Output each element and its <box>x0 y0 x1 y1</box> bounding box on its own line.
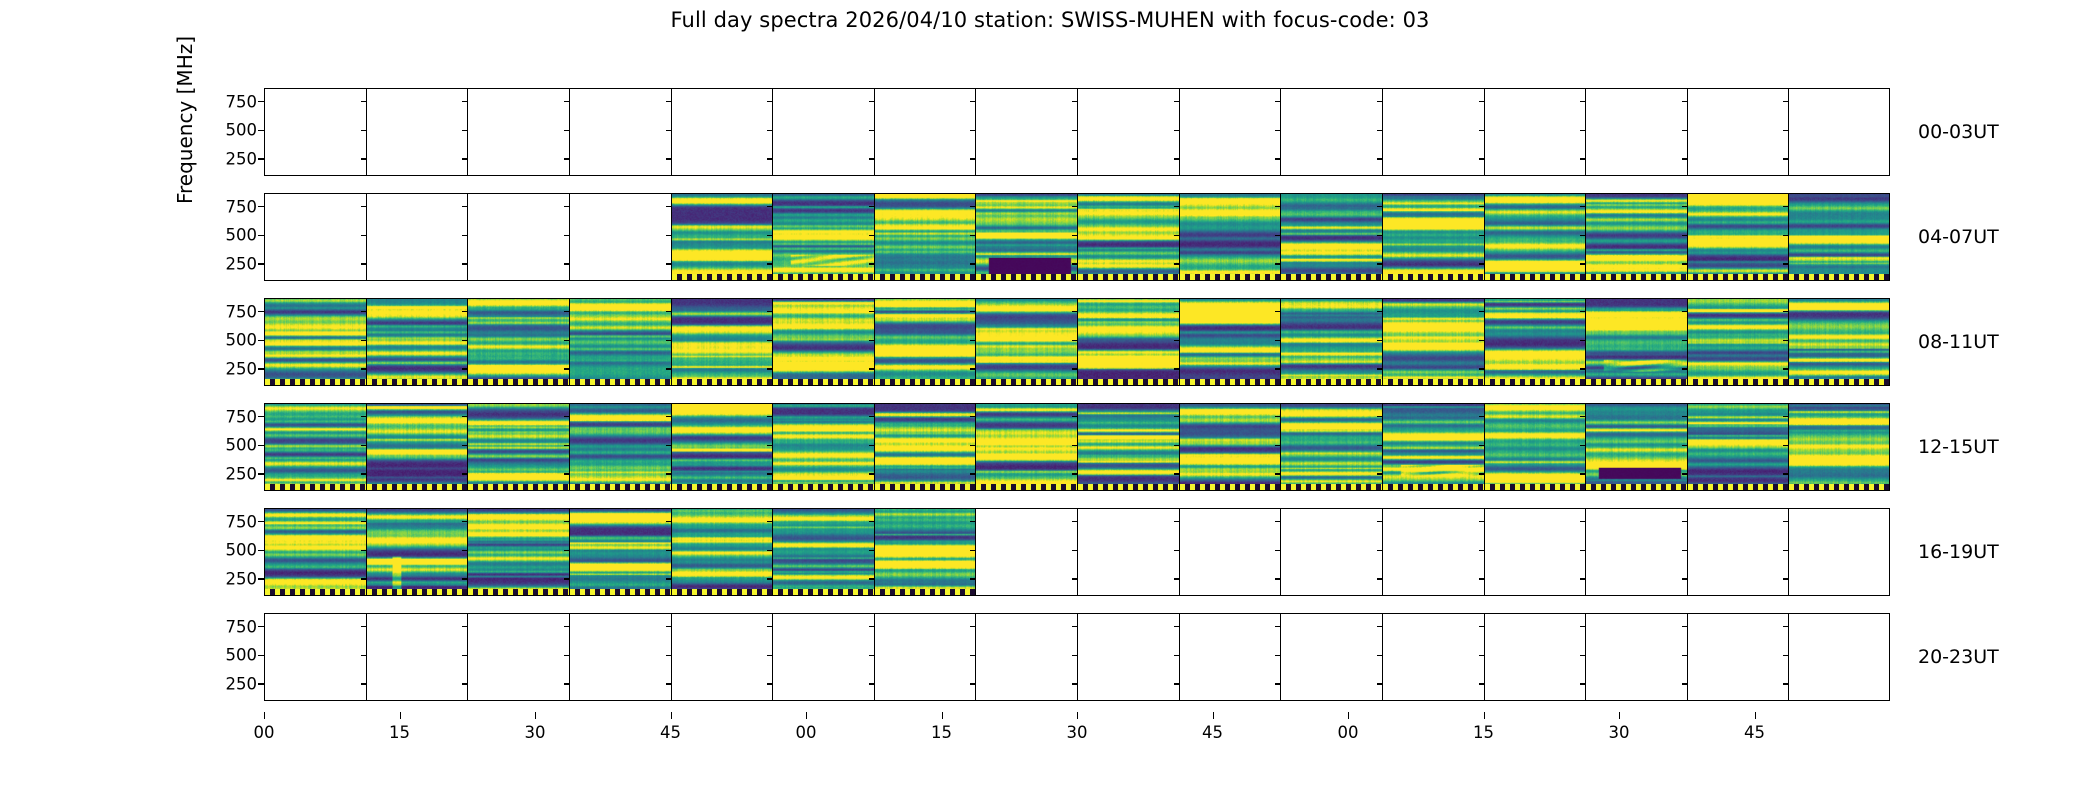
y-tick-mark-inner <box>462 473 467 474</box>
spectrogram-cell[interactable] <box>1383 89 1485 175</box>
y-tick-mark-inner <box>564 368 569 369</box>
y-tick-mark-inner <box>970 578 975 579</box>
spectrogram-cell[interactable] <box>1688 89 1790 175</box>
baseline-marker <box>976 484 1077 490</box>
y-tick-mark-inner <box>666 521 671 522</box>
y-tick-mark-inner <box>1479 311 1484 312</box>
spectrogram-cell[interactable] <box>875 614 977 700</box>
y-tick-mark-inner <box>361 521 366 522</box>
spectrogram-cell[interactable] <box>1586 509 1688 595</box>
spectrogram-cell[interactable] <box>265 404 367 490</box>
spectrogram-cell[interactable] <box>1586 89 1688 175</box>
y-tick-mark-inner <box>869 578 874 579</box>
baseline-marker <box>468 589 569 595</box>
y-tick-mark-inner <box>564 206 569 207</box>
spectrogram-image <box>1688 194 1789 280</box>
y-tick-mark-inner <box>1682 626 1687 627</box>
spectrogram-cell[interactable] <box>570 299 672 385</box>
x-tick-label: 30 <box>525 723 546 742</box>
y-tick-mark-inner <box>970 655 975 656</box>
y-tick-mark-inner <box>361 578 366 579</box>
spectrogram-cell[interactable] <box>468 194 570 280</box>
baseline-marker <box>570 379 671 385</box>
spectrogram-cell[interactable] <box>1789 89 1890 175</box>
spectrogram-cell[interactable] <box>1688 509 1790 595</box>
spectrogram-cell[interactable] <box>1586 614 1688 700</box>
baseline-marker <box>1281 484 1382 490</box>
spectrogram-image <box>672 509 773 595</box>
spectrogram-cell[interactable] <box>1078 614 1180 700</box>
baseline-marker <box>672 589 773 595</box>
spectrogram-row-12-15ut[interactable]: 750500250 <box>264 403 1890 491</box>
spectrogram-cell[interactable] <box>1383 404 1485 490</box>
spectrogram-cell[interactable] <box>1281 89 1383 175</box>
spectrogram-cell[interactable] <box>1180 299 1282 385</box>
spectrogram-cell[interactable] <box>875 194 977 280</box>
y-tick-mark-inner <box>462 683 467 684</box>
baseline-marker <box>875 589 976 595</box>
baseline-marker <box>773 274 874 280</box>
baseline-marker <box>367 484 468 490</box>
spectrogram-cell[interactable] <box>773 89 875 175</box>
y-tick-mark-inner <box>1682 101 1687 102</box>
y-tick-mark-inner <box>1682 311 1687 312</box>
spectrogram-cell[interactable] <box>1180 194 1282 280</box>
y-tick-mark-inner <box>1783 550 1788 551</box>
spectrogram-cell[interactable] <box>367 194 469 280</box>
spectrogram-cell[interactable] <box>1789 404 1890 490</box>
spectrogram-cell[interactable] <box>570 89 672 175</box>
y-tick-mark-inner <box>970 626 975 627</box>
spectrogram-cell[interactable] <box>367 89 469 175</box>
spectrogram-image <box>1789 194 1890 280</box>
baseline-marker <box>1383 379 1484 385</box>
y-tick-mark-inner <box>1783 235 1788 236</box>
spectrogram-cell[interactable] <box>1485 404 1587 490</box>
spectrogram-cell[interactable] <box>875 404 977 490</box>
y-tick-mark-inner <box>1377 206 1382 207</box>
y-tick-mark-inner <box>1275 578 1280 579</box>
baseline-marker <box>773 379 874 385</box>
y-tick-label: 500 <box>226 121 258 140</box>
y-tick-mark-inner <box>1377 158 1382 159</box>
spectrogram-cell[interactable] <box>1485 194 1587 280</box>
y-tick-mark <box>258 130 264 131</box>
spectrogram-cell[interactable] <box>875 89 977 175</box>
y-tick-mark-inner <box>361 130 366 131</box>
spectrogram-image <box>1485 194 1586 280</box>
baseline-marker <box>672 379 773 385</box>
y-tick-mark-inner <box>1275 416 1280 417</box>
baseline-marker <box>672 484 773 490</box>
x-tick-label: 45 <box>1744 723 1765 742</box>
y-tick-mark-inner <box>1072 158 1077 159</box>
y-tick-mark-inner <box>869 311 874 312</box>
y-tick-mark-inner <box>1174 101 1179 102</box>
y-tick-mark-inner <box>1479 206 1484 207</box>
spectrogram-cell[interactable] <box>1180 509 1282 595</box>
spectrogram-cell[interactable] <box>468 404 570 490</box>
y-tick-mark-inner <box>1072 311 1077 312</box>
baseline-marker <box>367 589 468 595</box>
spectrogram-cell[interactable] <box>367 614 469 700</box>
y-tick-mark-inner <box>970 311 975 312</box>
x-tick-label: 15 <box>1473 723 1494 742</box>
y-tick-mark-inner <box>462 655 467 656</box>
y-tick-mark-inner <box>970 101 975 102</box>
spectrogram-cell[interactable] <box>1586 194 1688 280</box>
spectrogram-cell[interactable] <box>1281 194 1383 280</box>
y-tick-mark-inner <box>462 445 467 446</box>
y-tick-mark-inner <box>462 340 467 341</box>
spectrogram-cell[interactable] <box>1485 299 1587 385</box>
spectrogram-cell[interactable] <box>1180 89 1282 175</box>
spectrogram-cell[interactable] <box>468 509 570 595</box>
spectrogram-cell[interactable] <box>976 404 1078 490</box>
y-tick-mark-inner <box>1580 368 1585 369</box>
y-tick-mark-inner <box>767 263 772 264</box>
y-tick-mark-inner <box>1072 130 1077 131</box>
spectrogram-cell[interactable] <box>672 614 774 700</box>
y-tick-mark <box>258 416 264 417</box>
baseline-marker <box>1383 274 1484 280</box>
y-tick-mark-inner <box>1783 311 1788 312</box>
y-tick-mark-inner <box>1682 206 1687 207</box>
y-tick-mark-inner <box>970 158 975 159</box>
spectrogram-cell[interactable] <box>570 194 672 280</box>
baseline-marker <box>1586 274 1687 280</box>
baseline-marker <box>875 274 976 280</box>
y-tick-mark-inner <box>1580 416 1585 417</box>
y-tick-mark-inner <box>1377 368 1382 369</box>
y-tick-label: 250 <box>226 569 258 588</box>
y-tick-mark-inner <box>869 101 874 102</box>
spectrogram-cell[interactable] <box>672 299 774 385</box>
x-tick-mark <box>806 712 807 719</box>
row-label-20-23ut: 20-23UT <box>1918 646 1999 668</box>
y-tick-mark-inner <box>666 578 671 579</box>
y-tick-mark-inner <box>361 683 366 684</box>
spectrogram-cell[interactable] <box>773 194 875 280</box>
spectrogram-cell[interactable] <box>367 509 469 595</box>
spectrogram-image <box>1586 404 1687 490</box>
y-tick-mark-inner <box>666 655 671 656</box>
spectrogram-image <box>468 299 569 385</box>
spectrogram-cell[interactable] <box>672 404 774 490</box>
spectrogram-cell[interactable] <box>1078 194 1180 280</box>
y-tick-mark-inner <box>361 263 366 264</box>
y-tick-mark-inner <box>1479 578 1484 579</box>
spectrogram-cell[interactable] <box>1586 404 1688 490</box>
baseline-marker <box>1586 379 1687 385</box>
baseline-marker <box>1789 274 1890 280</box>
y-tick-mark-inner <box>767 473 772 474</box>
spectrogram-cell[interactable] <box>875 509 977 595</box>
y-tick-mark-inner <box>869 550 874 551</box>
x-tick-mark <box>942 712 943 719</box>
spectrogram-cell[interactable] <box>1688 194 1790 280</box>
spectrogram-cell[interactable] <box>976 194 1078 280</box>
y-tick-mark-inner <box>970 473 975 474</box>
spectrogram-image <box>265 299 366 385</box>
y-tick-mark-inner <box>869 263 874 264</box>
y-tick-mark-inner <box>869 473 874 474</box>
spectrogram-cell[interactable] <box>570 614 672 700</box>
spectrogram-cell[interactable] <box>468 89 570 175</box>
baseline-marker <box>875 379 976 385</box>
y-tick-mark <box>258 578 264 579</box>
baseline-marker <box>1078 379 1179 385</box>
y-tick-label: 500 <box>226 646 258 665</box>
spectrogram-cell[interactable] <box>1078 509 1180 595</box>
spectrogram-row-16-19ut[interactable]: 750500250 <box>264 508 1890 596</box>
y-tick-mark-inner <box>564 416 569 417</box>
y-tick-mark-inner <box>1479 655 1484 656</box>
spectrogram-cell[interactable] <box>1789 509 1890 595</box>
spectrogram-image <box>672 404 773 490</box>
spectrogram-cell[interactable] <box>976 89 1078 175</box>
page-title: Full day spectra 2026/04/10 station: SWI… <box>0 8 2100 32</box>
y-tick-mark <box>258 340 264 341</box>
spectrogram-cell[interactable] <box>1485 509 1587 595</box>
y-tick-mark-inner <box>1580 550 1585 551</box>
spectrogram-cell[interactable] <box>773 614 875 700</box>
spectrogram-cell[interactable] <box>1485 89 1587 175</box>
spectrogram-row-20-23ut[interactable]: 750500250 <box>264 613 1890 701</box>
y-tick-mark-inner <box>1580 263 1585 264</box>
baseline-marker <box>1688 379 1789 385</box>
spectrogram-cell[interactable] <box>1688 299 1790 385</box>
y-tick-label: 500 <box>226 226 258 245</box>
y-tick-mark-inner <box>1682 521 1687 522</box>
y-tick-mark-inner <box>1072 416 1077 417</box>
y-tick-mark-inner <box>767 206 772 207</box>
x-tick-mark <box>1619 712 1620 719</box>
spectrogram-cell[interactable] <box>1383 194 1485 280</box>
y-tick-mark-inner <box>1174 521 1179 522</box>
spectrogram-image <box>672 299 773 385</box>
y-tick-mark-inner <box>1174 311 1179 312</box>
y-tick-mark-inner <box>564 340 569 341</box>
row-label-08-11ut: 08-11UT <box>1918 331 1999 353</box>
y-tick-mark-inner <box>1072 578 1077 579</box>
y-tick-mark-inner <box>462 206 467 207</box>
row-plot-area <box>264 298 1890 386</box>
y-tick-label: 250 <box>226 464 258 483</box>
spectrogram-image <box>672 194 773 280</box>
y-tick-mark-inner <box>1377 311 1382 312</box>
spectrogram-cell[interactable] <box>672 509 774 595</box>
spectrogram-cell[interactable] <box>976 614 1078 700</box>
spectrogram-cell[interactable] <box>1789 614 1890 700</box>
y-tick-mark-inner <box>1783 655 1788 656</box>
y-tick-mark-inner <box>666 235 671 236</box>
y-tick-mark-inner <box>1682 235 1687 236</box>
y-tick-mark-inner <box>869 235 874 236</box>
y-tick-mark-inner <box>1783 101 1788 102</box>
y-tick-mark-inner <box>1580 158 1585 159</box>
y-tick-label: 250 <box>226 359 258 378</box>
spectrogram-row-04-07ut[interactable]: 750500250 <box>264 193 1890 281</box>
y-tick-mark-inner <box>564 521 569 522</box>
y-tick-mark-inner <box>666 368 671 369</box>
spectrogram-cell[interactable] <box>265 614 367 700</box>
spectrogram-image <box>773 404 874 490</box>
x-tick-label: 15 <box>931 723 952 742</box>
y-tick-mark <box>258 101 264 102</box>
spectrogram-cell[interactable] <box>1688 404 1790 490</box>
y-tick-mark-inner <box>1377 340 1382 341</box>
y-tick-mark-inner <box>1377 578 1382 579</box>
y-tick-mark <box>258 445 264 446</box>
spectrogram-cell[interactable] <box>1485 614 1587 700</box>
y-tick-mark-inner <box>767 578 772 579</box>
spectrogram-cell[interactable] <box>1078 299 1180 385</box>
y-tick-mark-inner <box>970 521 975 522</box>
y-tick-mark-inner <box>869 655 874 656</box>
y-tick-mark-inner <box>1174 655 1179 656</box>
spectrogram-cell[interactable] <box>1383 299 1485 385</box>
x-tick-label: 45 <box>660 723 681 742</box>
spectrogram-cell[interactable] <box>672 194 774 280</box>
y-tick-mark-inner <box>1682 550 1687 551</box>
spectrogram-cell[interactable] <box>265 509 367 595</box>
spectrogram-cell[interactable] <box>1688 614 1790 700</box>
y-tick-mark-inner <box>1072 521 1077 522</box>
spectrogram-cell[interactable] <box>1281 404 1383 490</box>
y-tick-mark-inner <box>1479 130 1484 131</box>
y-tick-mark-inner <box>1580 473 1585 474</box>
y-tick-mark-inner <box>1783 683 1788 684</box>
spectrogram-cell[interactable] <box>1180 614 1282 700</box>
y-tick-mark-inner <box>1682 578 1687 579</box>
y-tick-mark <box>258 368 264 369</box>
spectrogram-cell[interactable] <box>468 614 570 700</box>
spectrogram-cell[interactable] <box>773 509 875 595</box>
baseline-marker <box>367 379 468 385</box>
y-tick-mark-inner <box>970 340 975 341</box>
spectrogram-cell[interactable] <box>773 299 875 385</box>
y-tick-mark-inner <box>869 130 874 131</box>
spectrogram-row-00-03ut[interactable]: 750500250 <box>264 88 1890 176</box>
y-tick-mark-inner <box>869 683 874 684</box>
y-tick-mark-inner <box>1275 655 1280 656</box>
y-tick-mark-inner <box>666 626 671 627</box>
y-tick-mark-inner <box>361 473 366 474</box>
y-tick-mark-inner <box>1783 416 1788 417</box>
spectrogram-image <box>468 404 569 490</box>
spectrogram-cell[interactable] <box>570 509 672 595</box>
y-tick-mark <box>258 550 264 551</box>
y-tick-mark-inner <box>767 521 772 522</box>
y-tick-mark-inner <box>1479 626 1484 627</box>
spectrogram-cell[interactable] <box>976 299 1078 385</box>
y-tick-mark-inner <box>1275 473 1280 474</box>
y-tick-mark-inner <box>767 368 772 369</box>
y-tick-label: 250 <box>226 674 258 693</box>
y-tick-mark <box>258 521 264 522</box>
y-tick-mark-inner <box>1479 416 1484 417</box>
spectrogram-cell[interactable] <box>570 404 672 490</box>
y-tick-mark-inner <box>1275 263 1280 264</box>
y-tick-mark-inner <box>666 445 671 446</box>
y-tick-mark-inner <box>1479 263 1484 264</box>
spectrogram-image <box>1281 194 1382 280</box>
spectrogram-cell[interactable] <box>1281 509 1383 595</box>
spectrogram-cell[interactable] <box>1789 299 1890 385</box>
x-tick-mark <box>1213 712 1214 719</box>
x-tick-label: 00 <box>254 723 275 742</box>
spectrogram-cell[interactable] <box>1281 614 1383 700</box>
y-tick-mark-inner <box>1174 368 1179 369</box>
spectrogram-image <box>1078 194 1179 280</box>
spectrogram-cell[interactable] <box>265 194 367 280</box>
x-tick-mark <box>264 712 265 719</box>
spectrogram-cell[interactable] <box>265 299 367 385</box>
y-tick-mark-inner <box>462 263 467 264</box>
y-tick-mark-inner <box>1377 416 1382 417</box>
spectrogram-image <box>570 299 671 385</box>
y-tick-mark-inner <box>1275 521 1280 522</box>
baseline-marker <box>1789 484 1890 490</box>
spectrogram-cell[interactable] <box>976 509 1078 595</box>
y-tick-mark-inner <box>462 311 467 312</box>
y-tick-mark-inner <box>767 655 772 656</box>
y-tick-mark-inner <box>564 578 569 579</box>
spectrogram-cell[interactable] <box>1383 614 1485 700</box>
x-tick-mark <box>1755 712 1756 719</box>
spectrogram-cell[interactable] <box>1281 299 1383 385</box>
spectrogram-cell[interactable] <box>1383 509 1485 595</box>
y-tick-mark-inner <box>1682 340 1687 341</box>
spectrogram-cell[interactable] <box>265 89 367 175</box>
baseline-marker <box>1586 484 1687 490</box>
spectrogram-cell[interactable] <box>773 404 875 490</box>
spectrogram-cell[interactable] <box>672 89 774 175</box>
spectrogram-cell[interactable] <box>1789 194 1890 280</box>
y-tick-mark-inner <box>1174 416 1179 417</box>
y-tick-mark-inner <box>970 416 975 417</box>
baseline-marker <box>468 379 569 385</box>
spectrogram-image <box>570 404 671 490</box>
spectrogram-cell[interactable] <box>1180 404 1282 490</box>
spectrogram-cell[interactable] <box>875 299 977 385</box>
spectrogram-image <box>875 194 976 280</box>
y-tick-mark-inner <box>869 445 874 446</box>
x-tick-label: 15 <box>389 723 410 742</box>
y-tick-mark-inner <box>1174 578 1179 579</box>
spectrogram-cell[interactable] <box>367 404 469 490</box>
y-tick-mark-inner <box>970 206 975 207</box>
spectrogram-cell[interactable] <box>1586 299 1688 385</box>
y-tick-mark-inner <box>1580 445 1585 446</box>
spectrogram-image <box>1078 404 1179 490</box>
spectrogram-image <box>1383 404 1484 490</box>
x-tick-mark <box>400 712 401 719</box>
spectrogram-row-08-11ut[interactable]: 750500250 <box>264 298 1890 386</box>
y-tick-mark-inner <box>1072 340 1077 341</box>
spectrogram-cell[interactable] <box>1078 89 1180 175</box>
spectrogram-cell[interactable] <box>1078 404 1180 490</box>
spectrogram-cell[interactable] <box>367 299 469 385</box>
spectrogram-figure: Full day spectra 2026/04/10 station: SWI… <box>0 0 2100 800</box>
x-tick-mark <box>671 712 672 719</box>
y-tick-mark <box>258 206 264 207</box>
y-tick-mark-inner <box>1174 263 1179 264</box>
y-tick-mark-inner <box>1783 578 1788 579</box>
spectrogram-cell[interactable] <box>468 299 570 385</box>
y-tick-mark-inner <box>1275 683 1280 684</box>
